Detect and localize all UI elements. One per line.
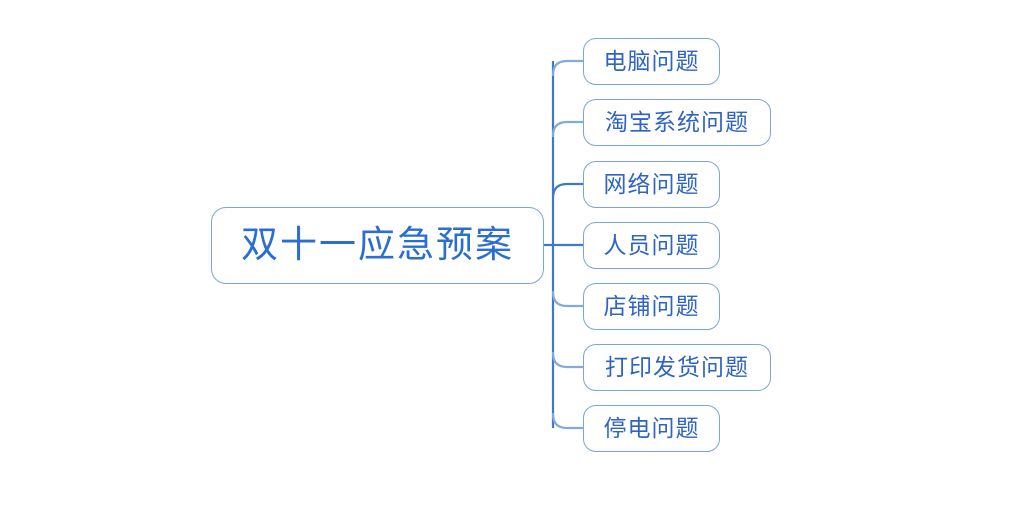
child-node-6-label: 打印发货问题 <box>605 356 749 379</box>
connector-branch-5 <box>553 292 583 306</box>
child-node-2[interactable]: 淘宝系统问题 <box>583 99 771 146</box>
child-node-2-label: 淘宝系统问题 <box>605 111 749 134</box>
root-node-label: 双十一应急预案 <box>241 227 514 264</box>
child-node-4-label: 人员问题 <box>604 234 700 257</box>
child-node-3[interactable]: 网络问题 <box>583 161 720 208</box>
child-node-5-label: 店铺问题 <box>604 295 700 318</box>
child-node-1[interactable]: 电脑问题 <box>583 38 720 85</box>
child-node-4[interactable]: 人员问题 <box>583 222 720 269</box>
connector-branch-6 <box>553 353 583 367</box>
child-node-1-label: 电脑问题 <box>604 50 700 73</box>
child-node-3-label: 网络问题 <box>604 173 700 196</box>
connector-branch-7 <box>553 414 583 428</box>
mindmap-canvas: 双十一应急预案 电脑问题 淘宝系统问题 网络问题 人员问题 店铺问题 打印发货问… <box>0 0 1033 511</box>
child-node-7[interactable]: 停电问题 <box>583 405 720 452</box>
connector-branch-1 <box>553 61 583 75</box>
child-node-7-label: 停电问题 <box>604 417 700 440</box>
connector-branch-3 <box>553 184 583 198</box>
child-node-6[interactable]: 打印发货问题 <box>583 344 771 391</box>
connector-branch-2 <box>553 122 583 136</box>
root-node[interactable]: 双十一应急预案 <box>211 207 544 284</box>
child-node-5[interactable]: 店铺问题 <box>583 283 720 330</box>
